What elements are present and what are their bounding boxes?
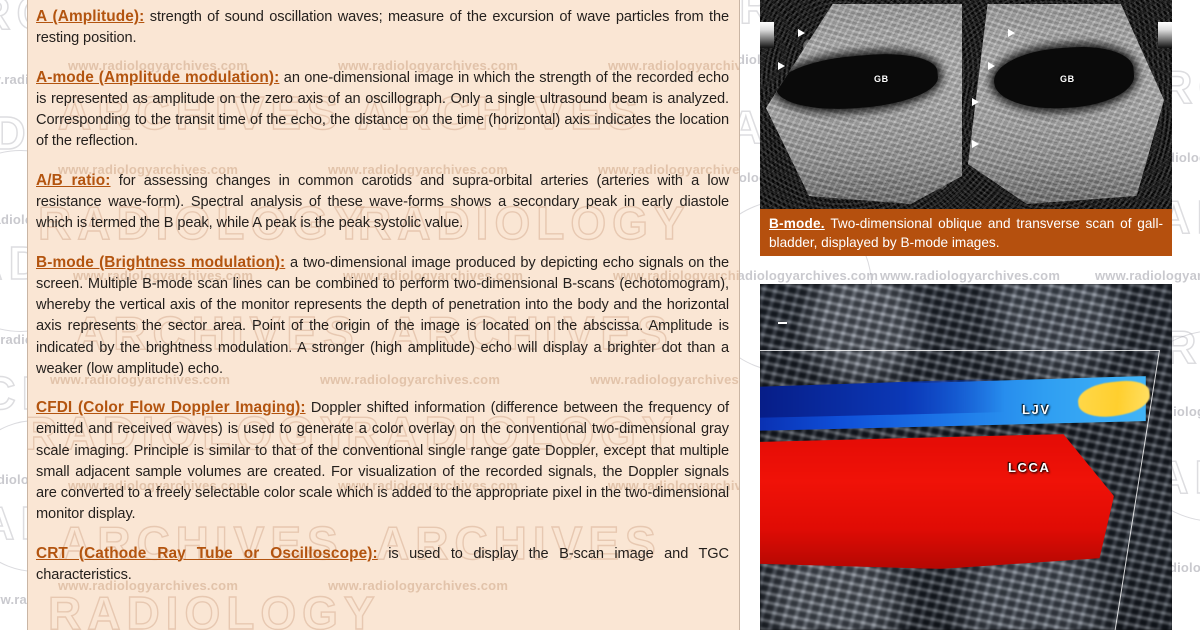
glossary-entry: A (Amplitude): strength of sound oscilla… [36, 6, 729, 50]
caret-marker-icon [972, 140, 979, 148]
figure-column: GB GB B-mode. Two-dimensional oblique an… [760, 0, 1172, 630]
caret-marker-icon [798, 29, 805, 37]
glossary-term: A (Amplitude): [36, 8, 144, 25]
glossary-definition: Doppler shifted information (difference … [36, 400, 729, 522]
glossary-term: CFDI (Color Flow Doppler Imaging): [36, 399, 306, 416]
caret-marker-icon [972, 98, 979, 106]
color-doppler-figure: LJV LCCA [760, 284, 1172, 630]
glossary-definition: a two-dimensional image produced by depi… [36, 255, 729, 377]
glossary-term: B-mode (Brightness modulation): [36, 254, 285, 271]
caret-marker-icon [988, 62, 995, 70]
glossary-term: A-mode (Amplitude modulation): [36, 69, 279, 86]
caret-marker-icon [778, 62, 785, 70]
glossary-entry: CRT (Cathode Ray Tube or Oscilloscope): … [36, 543, 729, 587]
glossary-entry: B-mode (Brightness modulation): a two-di… [36, 252, 729, 381]
glossary-entry-list: A (Amplitude): strength of sound oscilla… [28, 0, 739, 586]
glossary-entry: A/B ratio: for assessing changes in comm… [36, 170, 729, 235]
grayscale-wedge-icon [760, 22, 774, 48]
glossary-term: CRT (Cathode Ray Tube or Oscilloscope): [36, 545, 378, 562]
lcca-label: LCCA [1008, 460, 1051, 475]
watermark-big-text: RADIOLOGY [48, 586, 381, 630]
glossary-definition: for assessing changes in common carotids… [36, 173, 729, 232]
bmode-caption: B-mode. Two-dimensional oblique and tran… [760, 209, 1172, 256]
bmode-figure: GB GB B-mode. Two-dimensional oblique an… [760, 0, 1172, 256]
gb-label: GB [874, 74, 889, 84]
gallbladder-lumen [774, 49, 940, 115]
caret-marker-icon [1008, 29, 1015, 37]
gb-label: GB [1060, 74, 1075, 84]
figure-gap-strip [760, 256, 1172, 284]
glossary-term: A/B ratio: [36, 172, 111, 189]
carotid-artery-flow [760, 434, 1114, 569]
grayscale-wedge-icon [1158, 22, 1172, 48]
glossary-entry: CFDI (Color Flow Doppler Imaging): Doppl… [36, 397, 729, 526]
ljv-label: LJV [1022, 402, 1051, 417]
bmode-ultrasound-image: GB GB [760, 0, 1172, 209]
caption-term: B-mode. [769, 216, 825, 231]
glossary-entry: A-mode (Amplitude modulation): an one-di… [36, 67, 729, 153]
caption-body: Two-dimensional oblique and transverse s… [769, 216, 1163, 250]
depth-tick-marker-icon [778, 322, 787, 324]
glossary-panel: ARCHIVES ARCHIVES RADIOLOGY RADIOLOGY AR… [27, 0, 740, 630]
